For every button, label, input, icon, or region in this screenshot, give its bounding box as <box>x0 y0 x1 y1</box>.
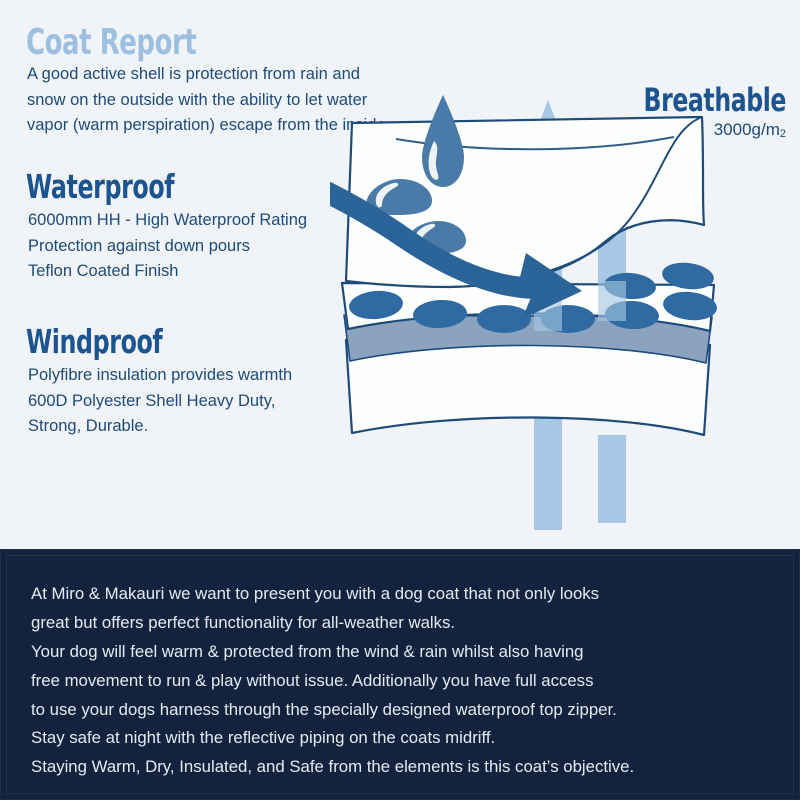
coat-report-infographic: Coat Report A good active shell is prote… <box>0 0 800 800</box>
water-droplet <box>422 95 464 187</box>
lining-layer <box>346 340 710 435</box>
page-title: Coat Report <box>26 25 196 61</box>
vapor-arrow-tails <box>534 435 626 530</box>
breathable-rating-subscript: 2 <box>780 128 786 140</box>
fabric-layer-cutaway-diagram <box>330 95 730 550</box>
top-info-panel: Coat Report A good active shell is prote… <box>0 0 800 549</box>
brand-description-copy: At Miro & Makauri we want to present you… <box>31 580 771 782</box>
bottom-description-panel: At Miro & Makauri we want to present you… <box>0 549 800 800</box>
waterproof-heading: Waterproof <box>26 170 174 203</box>
windproof-heading: Windproof <box>26 325 162 358</box>
